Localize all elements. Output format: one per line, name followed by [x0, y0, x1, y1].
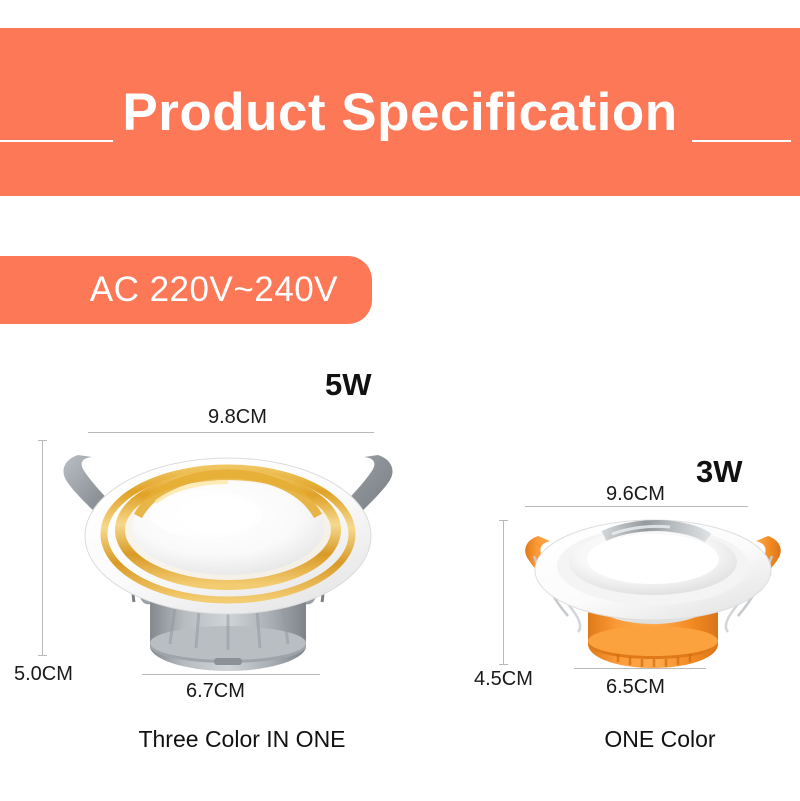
product-image-3w: [508, 512, 798, 677]
product-wattage-3w: 3W: [696, 454, 743, 490]
product-image-5w: [38, 440, 418, 675]
voltage-badge-label: AC 220V~240V: [90, 270, 338, 310]
product-wattage-5w: 5W: [325, 367, 372, 403]
dimension-depth-3w: 6.5CM: [606, 676, 665, 699]
dimension-line-width-5w: [88, 432, 374, 433]
dimension-width-3w: 9.6CM: [606, 483, 665, 506]
dimension-line-height-3w: [503, 520, 504, 665]
voltage-badge: AC 220V~240V: [0, 256, 372, 324]
header-band: Product Specification: [0, 28, 800, 196]
dimension-depth-5w: 6.7CM: [186, 680, 245, 703]
page-title: Product Specification: [0, 28, 800, 196]
dimension-line-width-3w: [525, 506, 748, 507]
product-caption-3w: ONE Color: [560, 726, 760, 753]
product-caption-5w: Three Color IN ONE: [122, 726, 362, 753]
dimension-width-5w: 9.8CM: [208, 406, 267, 429]
